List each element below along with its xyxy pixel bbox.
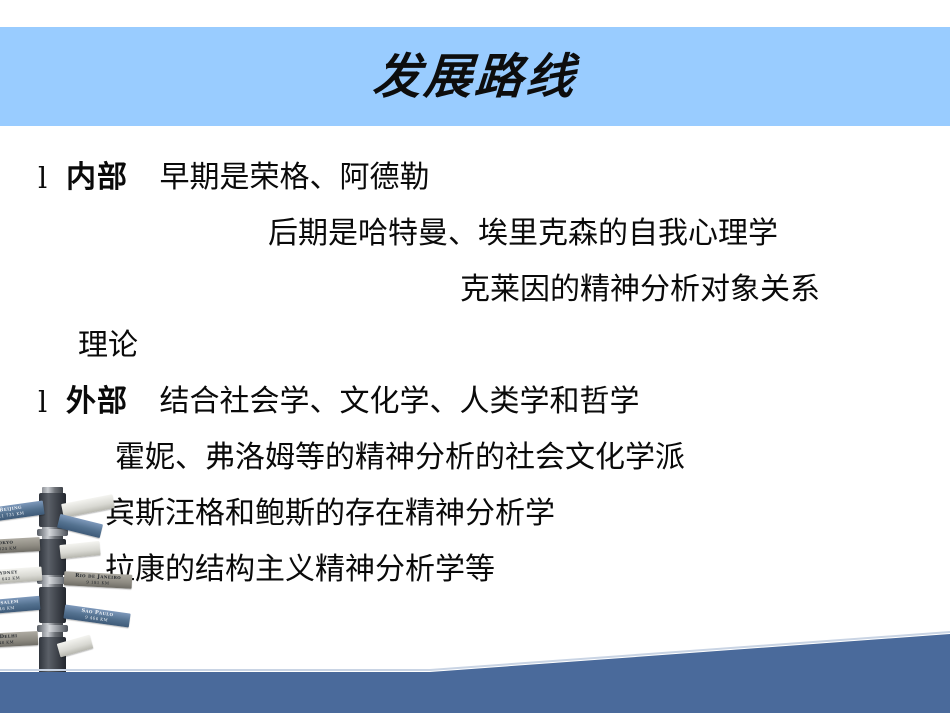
signpost-sign-blank [59,541,100,559]
bullet-text: 结合社会学、文化学、人类学和哲学 [160,374,640,430]
bullet-continuation: 理论 [0,318,950,374]
bullet-marker-icon: l [38,374,47,430]
bullet-text: 早期是荣格、阿德勒 [160,150,430,206]
page-title: 发展路线 [371,53,578,101]
bullet-continuation: 拉康的结构主义精神分析学等 [0,542,950,598]
signpost-collar [37,529,68,536]
bullet-marker-icon: l [38,150,47,206]
bullet-continuation: 后期是哈特曼、埃里克森的自我心理学 [0,206,950,262]
signpost-sign-distance: 14 324 KM [0,545,17,551]
signpost-sign-distance: 16 643 KM [0,575,20,582]
footer-decoration [0,600,950,713]
bullet-continuation: 克莱因的精神分析对象关系 [0,262,950,318]
bullet-heading: 内部 [66,150,128,206]
slide-canvas: 发展路线 l 内部 早期是荣格、阿德勒 后期是哈特曼、埃里克森的自我心理学 克莱… [0,0,950,713]
bullet-continuation: 霍妮、弗洛姆等的精神分析的社会文化学派 [0,430,950,486]
signpost-sign: Rio de Janeiro 9 181 KM [64,571,133,589]
slide-body: l 内部 早期是荣格、阿德勒 后期是哈特曼、埃里克森的自我心理学 克莱因的精神分… [0,150,950,598]
signpost-sign: Beijing 11 731 KM [0,500,45,523]
signpost-sign: Sydney 16 643 KM [0,567,42,586]
signpost-sign-blank [61,494,115,518]
bullet-item: l 外部 结合社会学、文化学、人类学和哲学 [0,374,950,430]
bullet-item: l 内部 早期是荣格、阿德勒 [0,150,950,206]
footer-wedge-icon [0,600,950,713]
signpost-sign: Tokyo 14 324 KM [0,537,40,555]
signpost-sign-distance: 9 181 KM [86,579,109,585]
bullet-heading: 外部 [66,374,128,430]
title-band: 发展路线 [0,27,950,126]
bullet-continuation: 宾斯汪格和鲍斯的存在精神分析学 [0,486,950,542]
